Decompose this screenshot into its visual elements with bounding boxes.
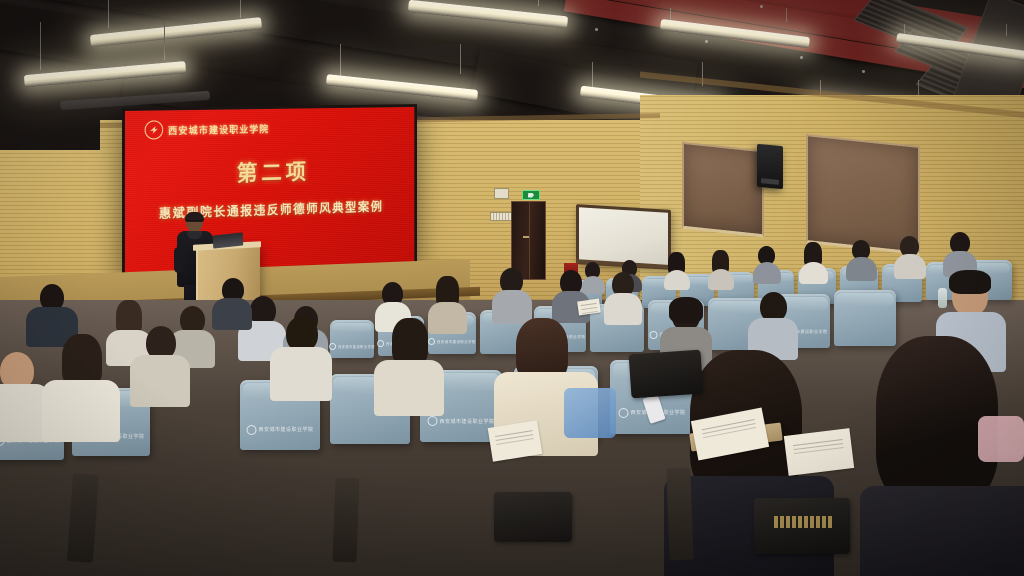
seat-logo: 西安城市建设职业学院 bbox=[246, 425, 313, 435]
led-display-screen: 西安城市建设职业学院 第二项 惠斌副院长通报违反师德师风典型案例 bbox=[122, 104, 417, 278]
school-emblem-icon bbox=[145, 120, 164, 139]
pink-garment bbox=[978, 416, 1024, 462]
wall-speaker bbox=[757, 144, 783, 189]
auditorium-seat[interactable] bbox=[834, 290, 896, 346]
double-door[interactable] bbox=[511, 201, 546, 280]
handbag bbox=[494, 492, 572, 542]
school-name-text: 西安城市建设职业学院 bbox=[168, 121, 269, 137]
printed-handout bbox=[784, 428, 854, 476]
seat-logo: 西安城市建设职业学院 bbox=[427, 416, 494, 426]
screen-subtitle: 惠斌副院长通报违反师德师风典型案例 bbox=[125, 195, 414, 223]
glasses-icon bbox=[186, 220, 203, 224]
seat-logo-text: 西安城市建设职业学院 bbox=[439, 418, 494, 425]
armrest bbox=[333, 478, 360, 563]
auditorium-photo: 西安城市建设职业学院 第二项 惠斌副院长通报违反师德师风典型案例 bbox=[0, 0, 1024, 576]
window-roller-blind[interactable] bbox=[682, 142, 764, 238]
seat-logo-text: 西安城市建设职业学院 bbox=[258, 426, 313, 433]
screen-org-logo: 西安城市建设职业学院 bbox=[145, 119, 270, 140]
door-handle-icon[interactable] bbox=[523, 236, 529, 238]
window-roller-blind[interactable] bbox=[806, 134, 920, 255]
wall-control-plate[interactable] bbox=[494, 188, 509, 199]
glasses-icon bbox=[954, 292, 986, 296]
exit-sign-icon bbox=[522, 190, 540, 200]
handbag-print bbox=[774, 516, 832, 528]
armrest bbox=[666, 468, 693, 561]
screen-title: 第二项 bbox=[125, 152, 414, 190]
backpack bbox=[629, 350, 704, 399]
jacket-print bbox=[564, 388, 616, 438]
